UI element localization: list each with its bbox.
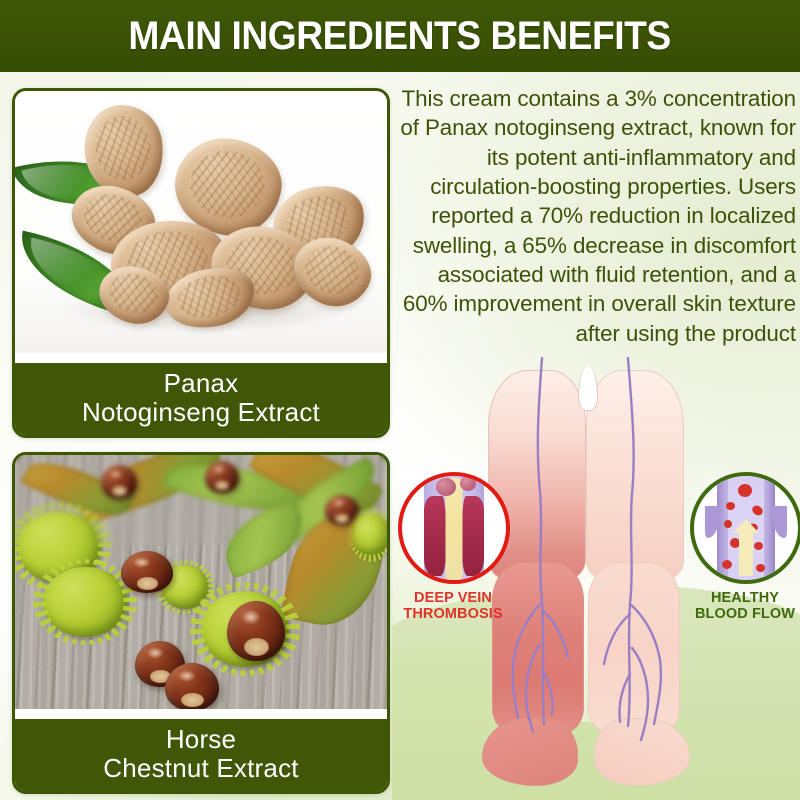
healthy-caption: HEALTHY BLOOD FLOW xyxy=(690,590,800,622)
horse-chestnut-photo xyxy=(15,455,387,709)
chestnut-nut xyxy=(165,663,219,709)
panax-label-line2: Notoginseng Extract xyxy=(19,398,383,427)
chestnut-nut xyxy=(205,461,239,493)
blood-flow-arrow-icon xyxy=(739,532,753,576)
chestnut-husk xyxy=(353,513,387,557)
ingredient-card-horse-chestnut[interactable]: Horse Chestnut Extract xyxy=(12,452,390,794)
page-title: MAIN INGREDIENTS BENEFITS xyxy=(129,14,671,59)
panax-label: Panax Notoginseng Extract xyxy=(15,363,387,435)
chestnut-husk xyxy=(43,567,127,637)
dvt-caption: DEEP VEIN THROMBOSIS xyxy=(398,590,508,622)
chestnut-label-line1: Horse xyxy=(19,725,383,754)
red-blood-cell xyxy=(754,542,763,550)
chestnut-nut-open xyxy=(227,601,285,661)
dvt-diagram[interactable]: DEEP VEIN THROMBOSIS xyxy=(398,472,508,622)
healthy-caption-line1: HEALTHY xyxy=(690,590,800,606)
chestnut-nut xyxy=(121,551,173,593)
red-blood-cell xyxy=(738,484,752,497)
dvt-circle-icon xyxy=(398,472,510,584)
header-bar: MAIN INGREDIENTS BENEFITS xyxy=(0,0,800,72)
dvt-clot-right xyxy=(462,496,484,576)
dvt-thrombus-node xyxy=(436,478,456,496)
red-blood-cell xyxy=(722,560,732,569)
panax-photo xyxy=(15,91,387,353)
dvt-caption-line1: DEEP VEIN xyxy=(398,590,508,606)
horse-chestnut-label: Horse Chestnut Extract xyxy=(15,719,387,791)
red-blood-cell xyxy=(756,564,765,572)
benefits-paragraph: This cream contains a 3% concentration o… xyxy=(392,84,796,348)
healthy-flow-diagram[interactable]: HEALTHY BLOOD FLOW xyxy=(690,472,800,622)
healthy-caption-line2: BLOOD FLOW xyxy=(690,606,800,622)
dvt-caption-line2: THROMBOSIS xyxy=(398,606,508,622)
red-blood-cell xyxy=(724,520,732,528)
chestnut-nut xyxy=(101,465,137,499)
dvt-clot-left xyxy=(424,496,446,576)
ingredients-benefits-poster: MAIN INGREDIENTS BENEFITS Panax Notogins… xyxy=(0,0,800,800)
red-blood-cell xyxy=(726,502,735,510)
healthy-circle-icon xyxy=(690,472,800,584)
dvt-thrombus-node xyxy=(460,476,476,491)
panax-label-line1: Panax xyxy=(19,369,383,398)
ingredient-card-panax[interactable]: Panax Notoginseng Extract xyxy=(12,88,390,438)
chestnut-label-line2: Chestnut Extract xyxy=(19,754,383,783)
